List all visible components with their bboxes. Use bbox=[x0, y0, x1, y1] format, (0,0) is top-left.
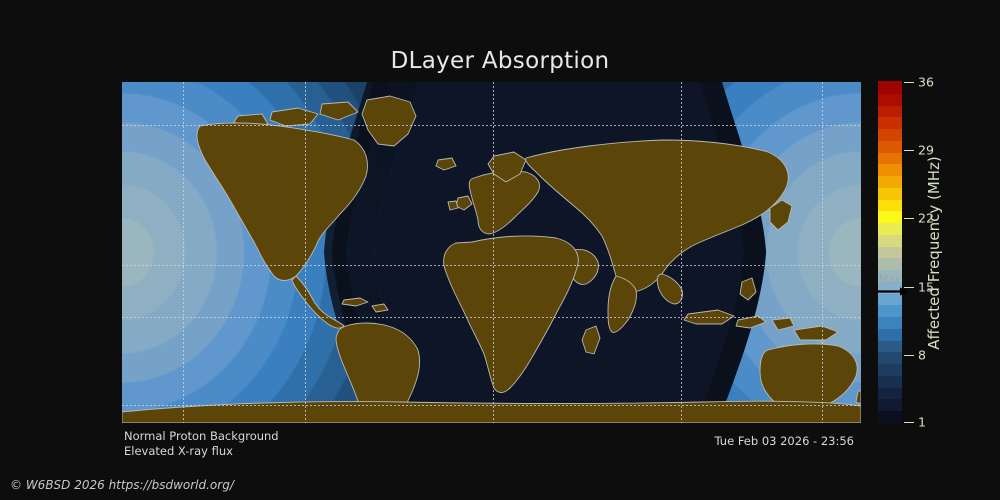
colorbar-band bbox=[878, 340, 902, 352]
colorbar-band bbox=[878, 175, 902, 187]
colorbar-axis-label-text: Affected Frequency (MHz) bbox=[925, 156, 943, 350]
colorbar-band bbox=[878, 317, 902, 329]
colorbar-band bbox=[878, 81, 902, 93]
colorbar-band bbox=[878, 164, 902, 176]
colorbar-band bbox=[878, 375, 902, 387]
colorbar-band bbox=[878, 93, 902, 105]
timestamp: Tue Feb 03 2026 - 23:56 bbox=[0, 434, 854, 448]
colorbar-tick bbox=[904, 422, 914, 423]
colorbar-band bbox=[878, 105, 902, 117]
colorbar[interactable]: Max 1815222936 bbox=[878, 82, 902, 423]
colorbar-tick bbox=[904, 287, 914, 288]
colorbar-band bbox=[878, 352, 902, 364]
colorbar-tick bbox=[904, 150, 914, 151]
page-title: DLayer Absorption bbox=[0, 48, 1000, 74]
colorbar-axis-label: Affected Frequency (MHz) bbox=[922, 82, 946, 423]
colorbar-band bbox=[878, 411, 902, 423]
colorbar-band bbox=[878, 258, 902, 270]
world-absorption-map[interactable] bbox=[122, 82, 861, 423]
colorbar-band bbox=[878, 246, 902, 258]
colorbar-band bbox=[878, 211, 902, 223]
colorbar-band bbox=[878, 234, 902, 246]
night-shading bbox=[374, 82, 744, 423]
colorbar-band bbox=[878, 364, 902, 376]
colorbar-band bbox=[878, 328, 902, 340]
footer-copyright: © W6BSD 2026 https://bsdworld.org/ bbox=[10, 478, 234, 492]
colorbar-band bbox=[878, 305, 902, 317]
dlayer-absorption-page: DLayer Absorption bbox=[0, 0, 1000, 500]
colorbar-tick bbox=[904, 82, 914, 83]
colorbar-gradient bbox=[878, 82, 902, 423]
colorbar-band bbox=[878, 199, 902, 211]
colorbar-band bbox=[878, 223, 902, 235]
colorbar-band bbox=[878, 128, 902, 140]
colorbar-band bbox=[878, 399, 902, 411]
max-marker-label: Max bbox=[879, 274, 901, 286]
colorbar-tick bbox=[904, 355, 914, 356]
colorbar-band bbox=[878, 152, 902, 164]
colorbar-band bbox=[878, 140, 902, 152]
colorbar-band bbox=[878, 187, 902, 199]
map-canvas bbox=[122, 82, 861, 423]
max-arrow-icon bbox=[878, 287, 908, 296]
colorbar-tick bbox=[904, 218, 914, 219]
colorbar-band bbox=[878, 117, 902, 129]
colorbar-band bbox=[878, 387, 902, 399]
